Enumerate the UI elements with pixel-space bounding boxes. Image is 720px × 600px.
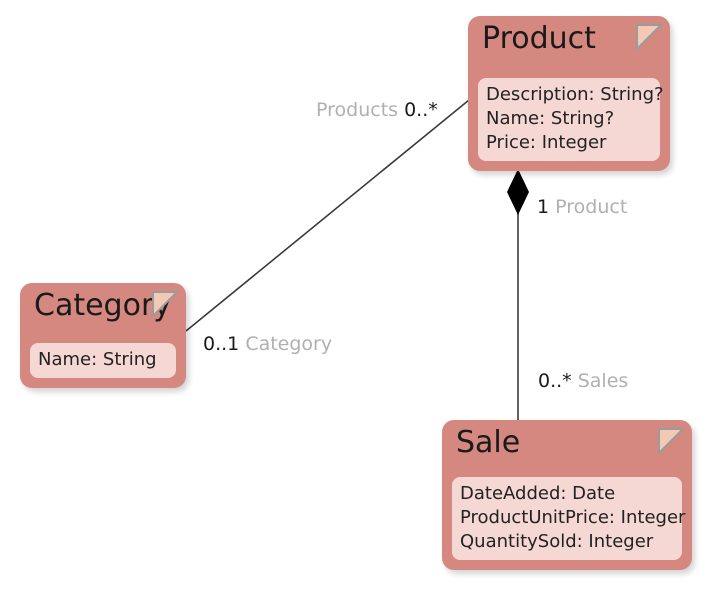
multiplicity-label-product: 1 [537, 196, 549, 218]
edge-label-product-end: 1 Product [537, 195, 627, 219]
role-label-category: Category [245, 333, 332, 355]
corner-fold-icon [658, 428, 684, 454]
multiplicity-label-products: 0..* [404, 99, 438, 121]
edge-label-category-end: 0..1 Category [203, 332, 332, 356]
class-title-product: Product [482, 20, 596, 58]
attribute-row: QuantitySold: Integer [460, 530, 674, 554]
attribute-row: DateAdded: Date [460, 482, 674, 506]
attribute-row: ProductUnitPrice: Integer [460, 506, 674, 530]
edge-label-products-end: Products 0..* [316, 98, 438, 122]
attribute-row: Name: String [38, 348, 168, 372]
role-label-products: Products [316, 99, 398, 121]
role-label-sales: Sales [578, 370, 629, 392]
corner-fold-icon [636, 24, 662, 50]
multiplicity-label-category: 0..1 [203, 333, 239, 355]
attribute-compartment-sale: DateAdded: Date ProductUnitPrice: Intege… [452, 477, 682, 560]
class-box-sale[interactable]: Sale DateAdded: Date ProductUnitPrice: I… [442, 420, 692, 570]
attribute-compartment-category: Name: String [30, 343, 176, 378]
class-title-category: Category [34, 287, 171, 325]
attribute-compartment-product: Description: String? Name: String? Price… [478, 78, 660, 161]
edge-label-sales-end: 0..* Sales [538, 369, 628, 393]
attribute-row: Description: String? [486, 83, 652, 107]
composition-diamond-icon [507, 169, 529, 215]
edge-category-product[interactable] [186, 100, 469, 331]
corner-fold-icon [152, 291, 178, 317]
multiplicity-label-sales: 0..* [538, 370, 572, 392]
diagram-canvas: Product association --> Product Descript… [0, 0, 720, 600]
attribute-row: Name: String? [486, 107, 652, 131]
class-title-sale: Sale [456, 424, 520, 462]
role-label-product: Product [555, 196, 627, 218]
class-box-category[interactable]: Category Name: String [20, 283, 186, 388]
class-box-product[interactable]: Product Description: String? Name: Strin… [468, 16, 670, 171]
attribute-row: Price: Integer [486, 131, 652, 155]
